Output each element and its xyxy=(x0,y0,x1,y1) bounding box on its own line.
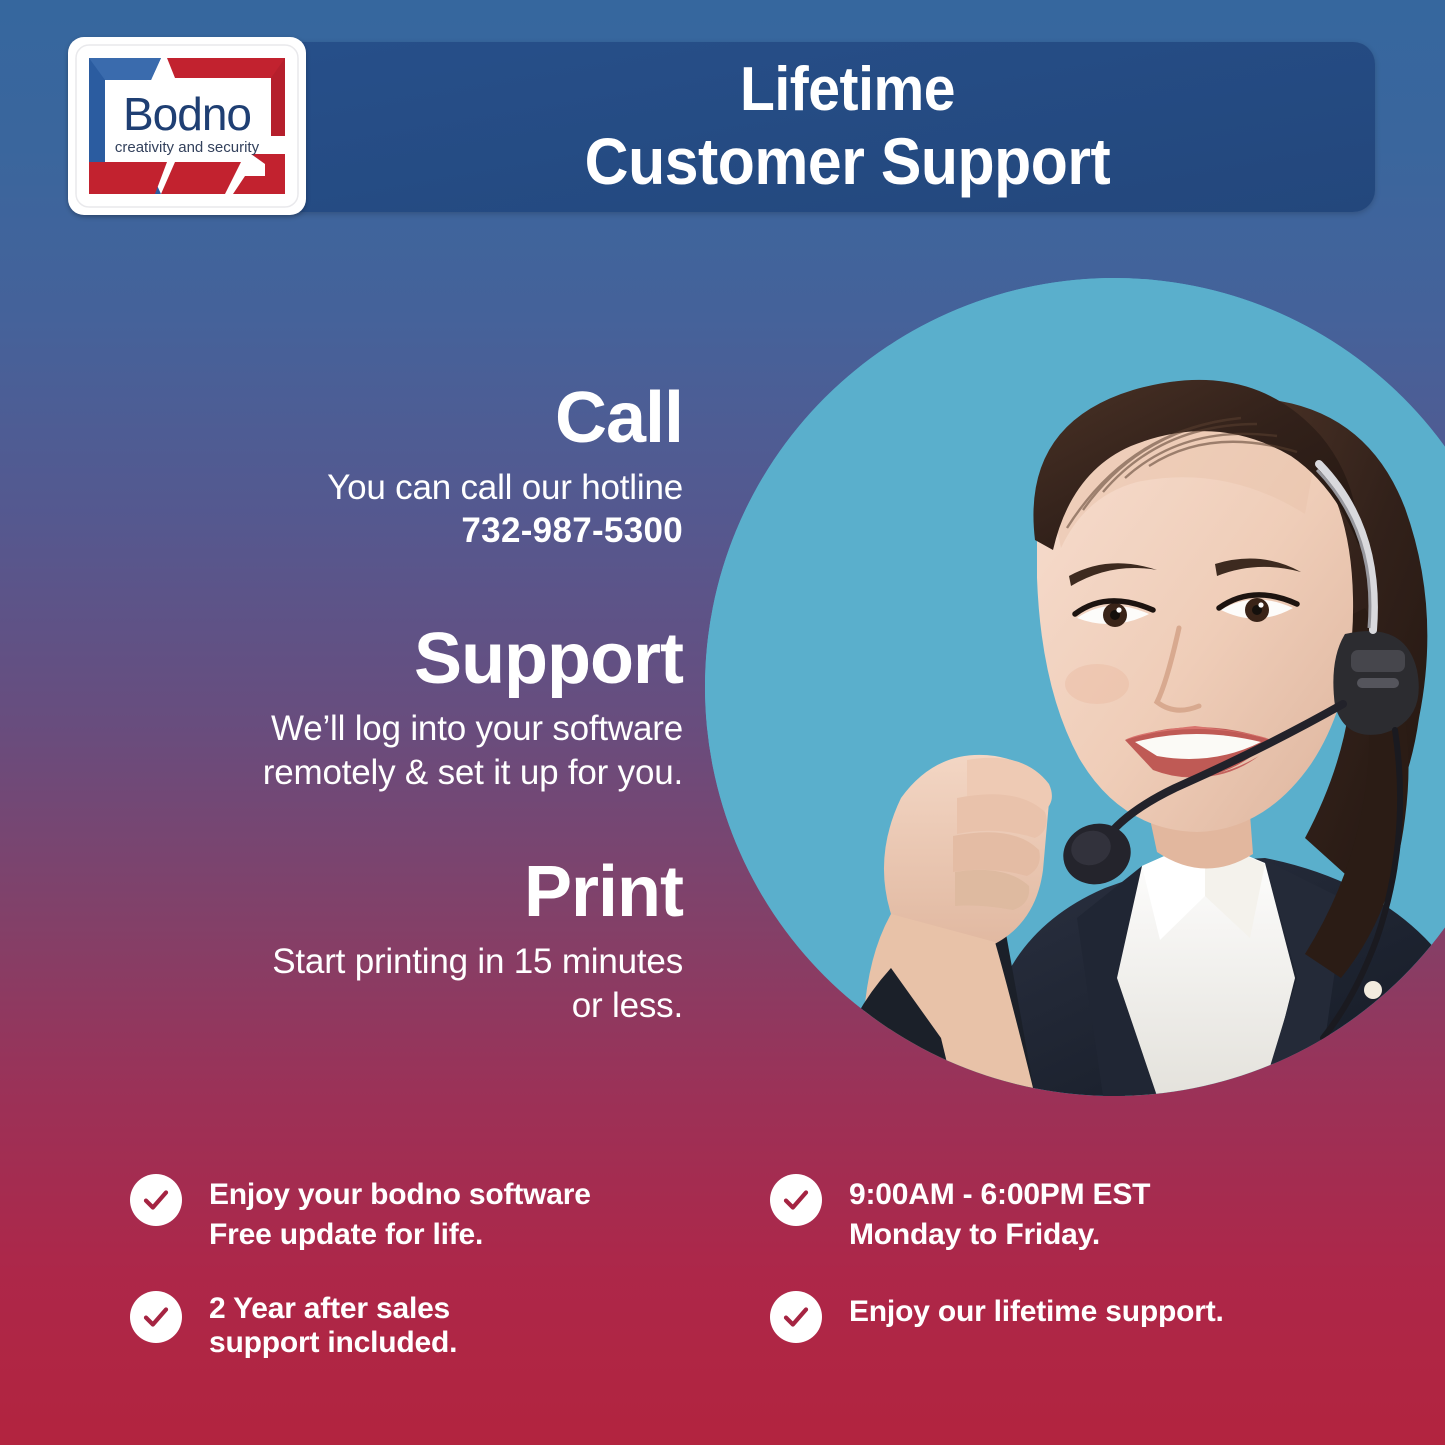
bodno-logo-mark: Bodno creativity and security xyxy=(75,44,299,208)
info-heading-support: Support xyxy=(120,623,683,695)
info-subtitle-print-line1: Start printing in 15 minutes xyxy=(272,942,683,981)
list-item: 2 Year after sales support included. xyxy=(130,1289,660,1360)
check-circle-icon xyxy=(770,1291,822,1343)
info-subtitle-support-line1: We’ll log into your software xyxy=(271,709,683,748)
checklist-column-right: 9:00AM - 6:00PM EST Monday to Friday. En… xyxy=(770,1172,1300,1360)
list-item: 9:00AM - 6:00PM EST Monday to Friday. xyxy=(770,1172,1300,1255)
list-item-label: 9:00AM - 6:00PM EST Monday to Friday. xyxy=(849,1172,1150,1255)
info-block-call: Call You can call our hotline 732-987-53… xyxy=(120,382,683,551)
check-circle-icon xyxy=(130,1174,182,1226)
list-item-line2: Free update for life. xyxy=(209,1215,591,1255)
list-item-line1: 2 Year after sales xyxy=(209,1292,457,1326)
info-column: Call You can call our hotline 732-987-53… xyxy=(120,382,683,1027)
promo-poster: Lifetime Customer Support Bodno creativi… xyxy=(0,0,1445,1445)
list-item-line2: support included. xyxy=(209,1326,457,1360)
list-item-line1: 9:00AM - 6:00PM EST xyxy=(849,1175,1150,1215)
page-title-line1: Lifetime xyxy=(740,55,955,124)
list-item-line2: Monday to Friday. xyxy=(849,1215,1150,1255)
hotline-phone-number[interactable]: 732-987-5300 xyxy=(120,511,683,551)
list-item-label: Enjoy your bodno software Free update fo… xyxy=(209,1172,591,1255)
support-agent-photo xyxy=(705,278,1445,1096)
info-subtitle-call: You can call our hotline xyxy=(120,466,683,509)
info-block-print: Print Start printing in 15 minutes or le… xyxy=(120,856,683,1027)
page-title: Lifetime Customer Support xyxy=(362,42,1333,212)
info-subtitle-print-line2: or less. xyxy=(572,986,683,1025)
benefits-checklist: Enjoy your bodno software Free update fo… xyxy=(130,1172,1315,1360)
checklist-column-left: Enjoy your bodno software Free update fo… xyxy=(130,1172,660,1360)
hero-circle xyxy=(705,278,1445,1096)
svg-text:creativity and security: creativity and security xyxy=(115,139,260,156)
info-subtitle-support-line2: remotely & set it up for you. xyxy=(263,753,683,792)
check-circle-icon xyxy=(770,1174,822,1226)
info-heading-print: Print xyxy=(120,856,683,928)
svg-text:Bodno: Bodno xyxy=(123,88,251,140)
list-item: Enjoy your bodno software Free update fo… xyxy=(130,1172,660,1255)
list-item: Enjoy our lifetime support. xyxy=(770,1289,1300,1343)
bodno-logo: Bodno creativity and security xyxy=(68,37,306,215)
page-title-line2: Customer Support xyxy=(585,125,1111,199)
info-heading-call: Call xyxy=(120,382,683,454)
check-circle-icon xyxy=(130,1291,182,1343)
list-item-label: Enjoy our lifetime support. xyxy=(849,1289,1224,1332)
list-item-label: 2 Year after sales support included. xyxy=(209,1289,457,1360)
info-block-support: Support We’ll log into your software rem… xyxy=(120,623,683,794)
list-item-line1: Enjoy your bodno software xyxy=(209,1175,591,1215)
list-item-line1: Enjoy our lifetime support. xyxy=(849,1292,1224,1332)
